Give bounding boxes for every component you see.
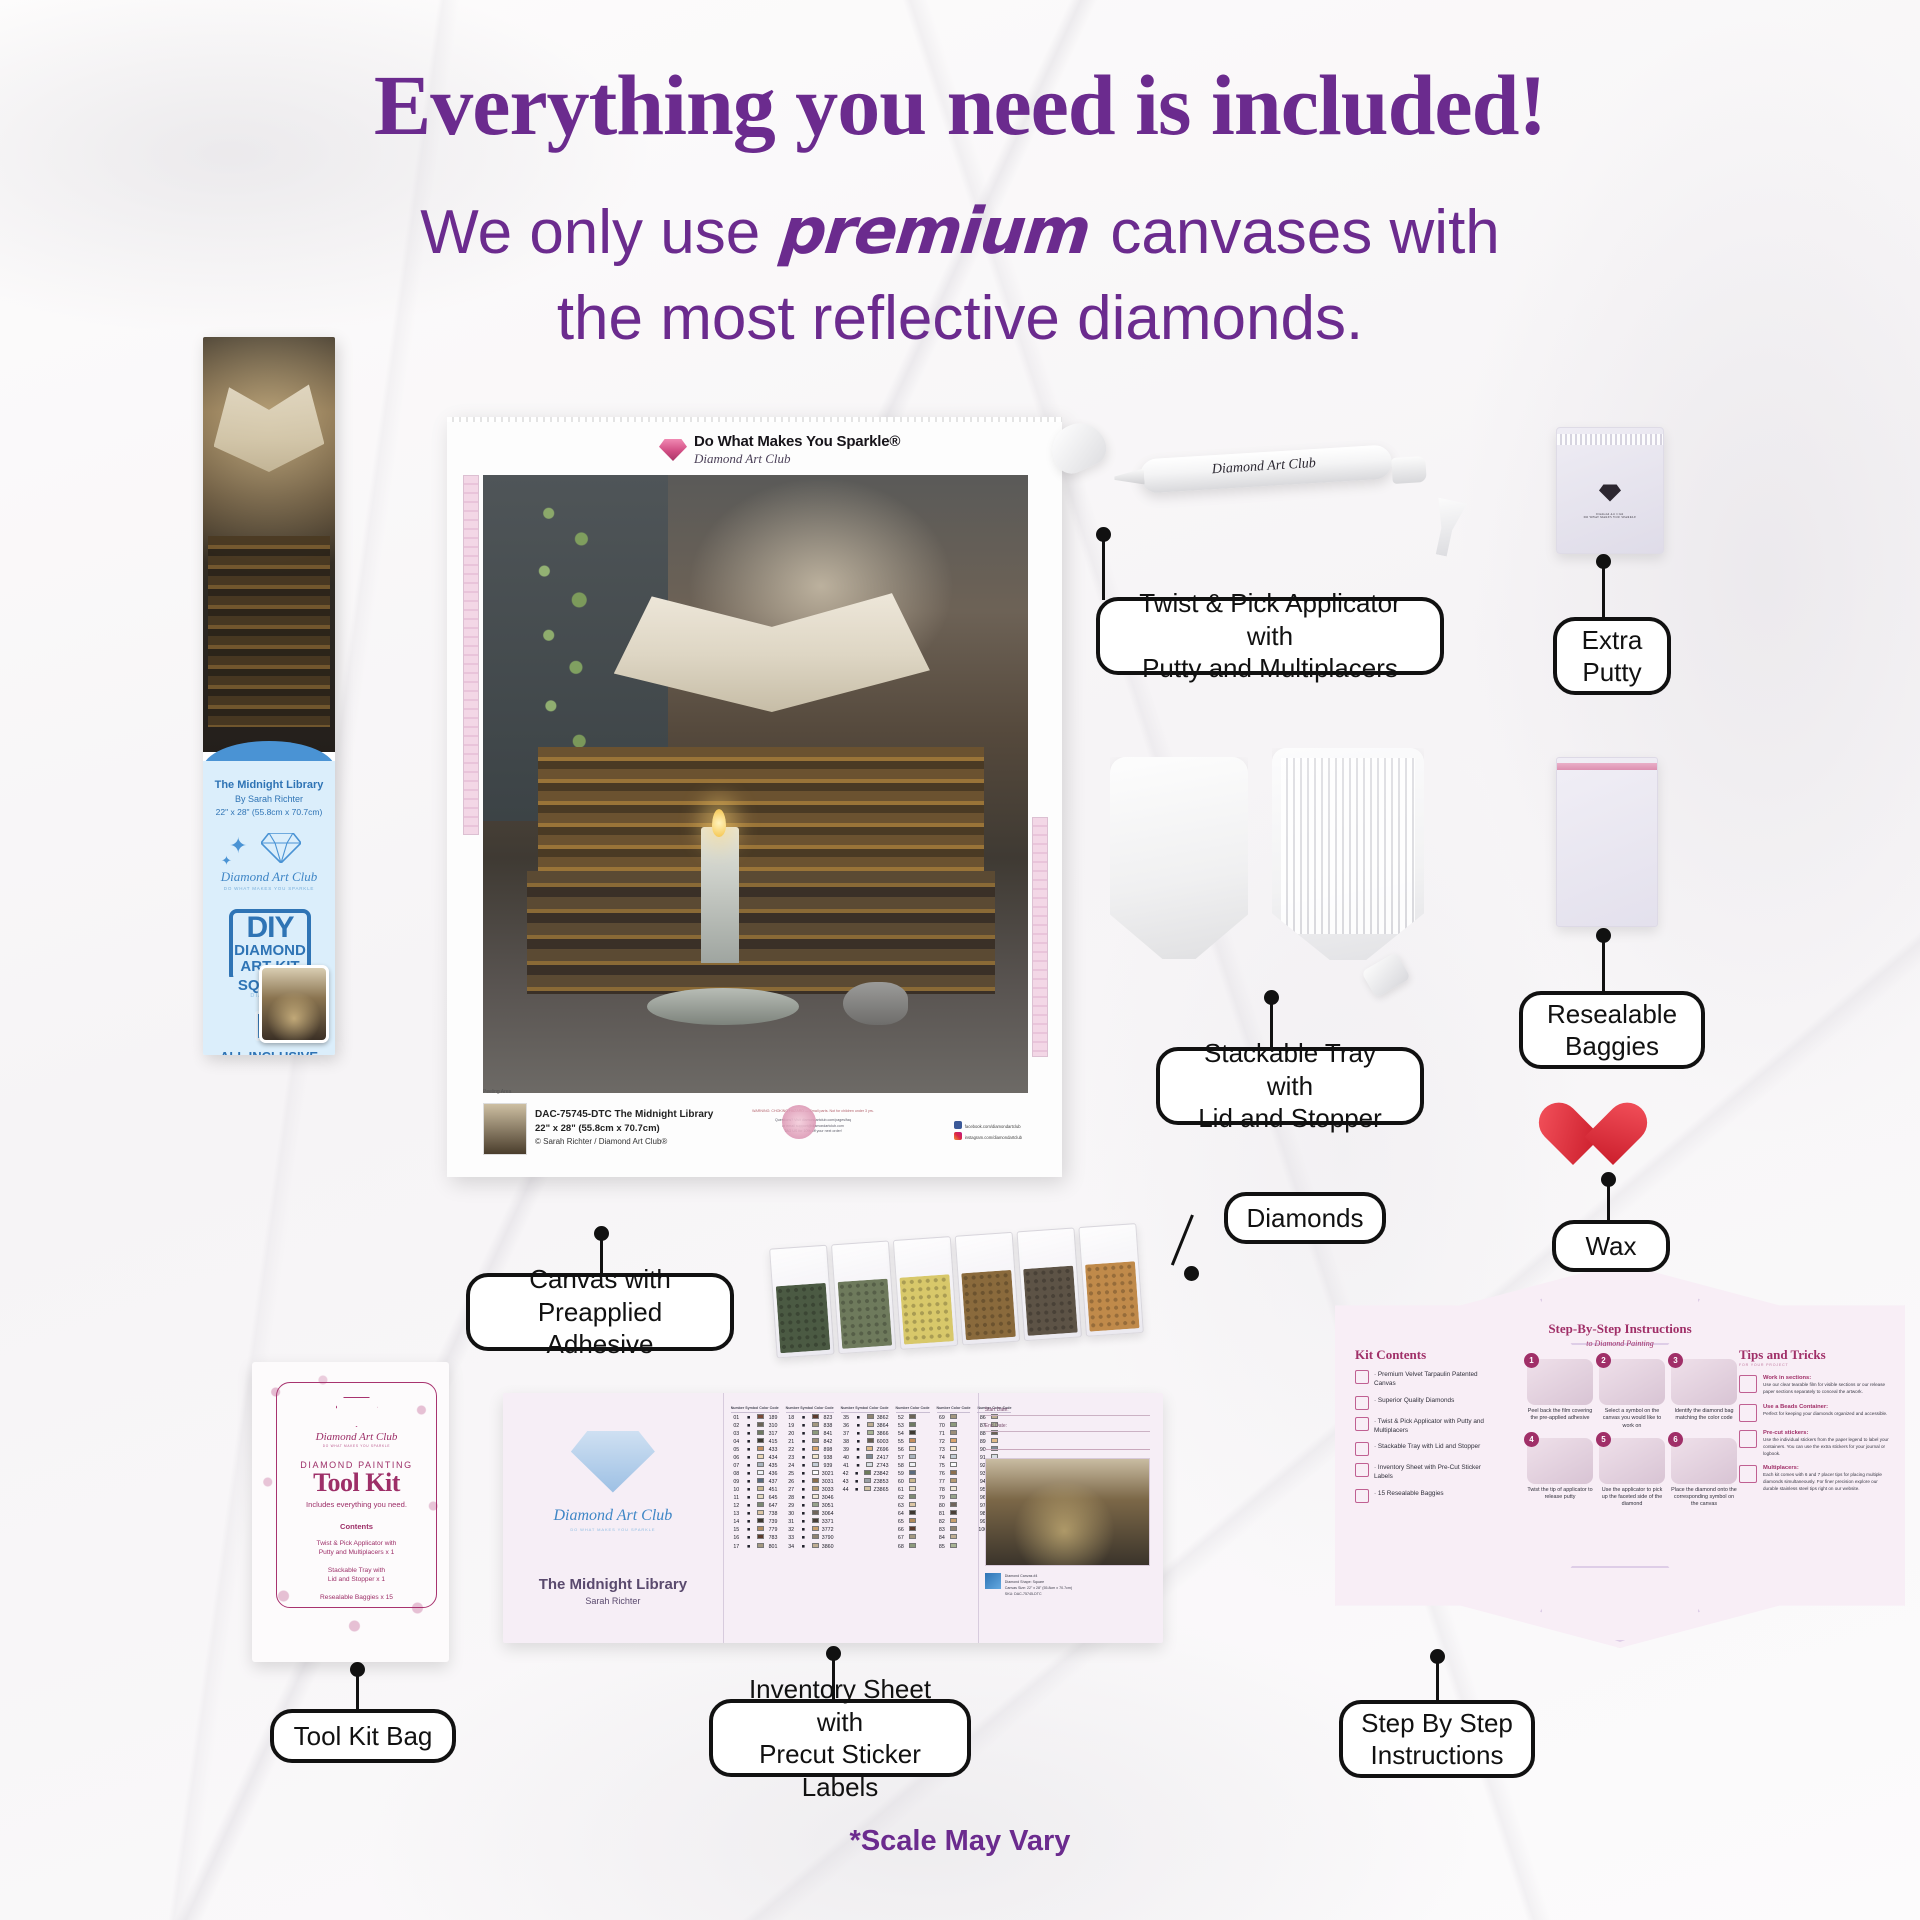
tip-item: Multiplacers:Each kit comes with 6 and 7…	[1739, 1465, 1891, 1493]
col-header-number: Number	[937, 1407, 951, 1411]
inventory-row: 72	[937, 1438, 971, 1446]
tip-body: Use our clear tearable film for visible …	[1763, 1382, 1891, 1396]
inventory-row-color-swatch	[948, 1454, 959, 1462]
instruction-step-text: Select a symbol on the canvas you would …	[1599, 1408, 1665, 1430]
inventory-row: 62	[896, 1494, 930, 1502]
inventory-row-number: 65	[896, 1518, 907, 1526]
inventory-row: 63	[896, 1502, 930, 1510]
inventory-row-color-swatch	[863, 1486, 873, 1494]
inventory-row-number: 55	[896, 1438, 907, 1446]
inventory-row-color-swatch	[907, 1486, 918, 1494]
wax-heart	[1572, 1105, 1644, 1171]
instruction-step-number: 1	[1524, 1353, 1539, 1368]
instruction-steps-grid: 1Peel back the film covering the pre-app…	[1527, 1359, 1737, 1509]
inventory-row-number: 27	[786, 1486, 797, 1494]
inventory-row-code	[960, 1470, 971, 1478]
inventory-row-code	[919, 1534, 930, 1542]
leader-line-resealable	[1602, 935, 1605, 993]
tray-stopper	[1361, 952, 1411, 998]
inventory-table-body: 5253545556575859606162636465666768	[896, 1414, 930, 1551]
canvas-artwork	[483, 475, 1028, 1093]
inventory-table-column: Number Color Code 6970717273747576777879…	[937, 1407, 971, 1629]
inventory-row-color-swatch	[755, 1502, 766, 1510]
inventory-color-tables: Number Symbol Color Code 01■18902■31003■…	[731, 1407, 975, 1629]
inventory-row-number: 63	[896, 1502, 907, 1510]
inventory-row: 82	[937, 1518, 971, 1526]
diamond-fill	[899, 1274, 954, 1344]
inventory-row: 57	[896, 1454, 930, 1462]
extra-putty-bag: Diamond Art Club DO WHAT MAKES YOU SPARK…	[1556, 427, 1664, 554]
page-title: Everything you need is included!	[0, 62, 1920, 148]
sparkle-icon-small: ✦	[221, 853, 232, 869]
inventory-artwork-preview	[985, 1458, 1150, 1566]
inventory-row: 55	[896, 1438, 930, 1446]
inventory-row-code: 317	[767, 1430, 778, 1438]
inventory-row-number: 16	[731, 1534, 742, 1542]
inventory-row-code: Z3853	[874, 1478, 889, 1486]
inventory-row-color-swatch	[863, 1470, 873, 1478]
inventory-row-color-swatch	[755, 1462, 766, 1470]
resealable-baggie	[1556, 757, 1658, 927]
inventory-row: 14■739	[731, 1518, 779, 1526]
inventory-row-symbol: ■	[798, 1534, 809, 1542]
diamond-icon	[261, 833, 301, 863]
scale-footnote: *Scale May Vary	[0, 1825, 1920, 1858]
inventory-table-header: Number Symbol Color Code	[731, 1407, 779, 1413]
leader-line-toolkit	[356, 1669, 359, 1711]
callout-applicator: Twist & Pick Applicator with Putty and M…	[1096, 597, 1444, 675]
tool-kit-brand: Diamond Art Club	[277, 1431, 436, 1443]
instruction-step-number: 5	[1596, 1432, 1611, 1447]
inventory-table-header: Number Color Code	[937, 1407, 971, 1413]
inventory-row-symbol: ■	[798, 1494, 809, 1502]
inventory-row-color-swatch	[810, 1446, 821, 1454]
inventory-row-code: 842	[822, 1438, 833, 1446]
inventory-row-code: Z417	[876, 1454, 888, 1462]
packaging-brand-tagline: DO WHAT MAKES YOU SPARKLE	[203, 886, 335, 891]
inventory-row: 36■3864	[841, 1422, 889, 1430]
inventory-row-symbol: ■	[798, 1446, 809, 1454]
inventory-row-number: 60	[896, 1478, 907, 1486]
inventory-row-code	[919, 1526, 930, 1534]
inventory-table-body: 18■82319■83820■84121■84222■89823■93824■9…	[786, 1414, 834, 1551]
tip-item: Work in sections:Use our clear tearable …	[1739, 1375, 1891, 1396]
inventory-row-number: 13	[731, 1510, 742, 1518]
inventory-row-symbol: ■	[853, 1422, 864, 1430]
inventory-row-number: 03	[731, 1430, 742, 1438]
inventory-row-code	[960, 1502, 971, 1510]
inventory-row-code	[919, 1462, 930, 1470]
facebook-icon	[954, 1121, 962, 1129]
inventory-row: 84	[937, 1534, 971, 1542]
inventory-row-number: 02	[731, 1422, 742, 1430]
inventory-row-symbol: ■	[798, 1526, 809, 1534]
diamond-bag	[1017, 1227, 1083, 1341]
inventory-row: 23■938	[786, 1454, 834, 1462]
applicator-brand: Diamond Art Club	[1211, 456, 1316, 478]
instruction-step-text: Peel back the film covering the pre-appl…	[1527, 1408, 1593, 1423]
kit-item-label: · 15 Resealable Baggies	[1374, 1489, 1444, 1498]
inventory-row: 29■3051	[786, 1502, 834, 1510]
inventory-row-color-swatch	[948, 1494, 959, 1502]
inventory-row: 37■3866	[841, 1430, 889, 1438]
diamond-fill	[838, 1279, 893, 1349]
inventory-row: 77	[937, 1478, 971, 1486]
inventory-row-number: 80	[937, 1502, 948, 1510]
col-header-color: Color	[951, 1407, 960, 1411]
kit-item-icon	[1355, 1417, 1369, 1431]
inventory-row: 76	[937, 1470, 971, 1478]
inventory-row-symbol: ■	[798, 1422, 809, 1430]
canvas-social-links: facebook.com/diamondartclub instagram.co…	[954, 1121, 1022, 1143]
tip-body: Perfect for keeping your diamonds organi…	[1763, 1411, 1887, 1418]
inventory-row-number: 25	[786, 1470, 797, 1478]
inventory-row-number: 37	[841, 1430, 852, 1438]
col-header-symbol: Symbol	[800, 1407, 813, 1411]
inventory-row-code: 739	[767, 1518, 778, 1526]
inventory-row-number: 78	[937, 1486, 948, 1494]
putty-bag-brand: Diamond Art Club DO WHAT MAKES YOU SPARK…	[1557, 513, 1663, 519]
packaging-size: 22" x 28" (55.8cm x 70.7cm)	[203, 807, 335, 817]
inventory-row: 81	[937, 1510, 971, 1518]
inventory-row-symbol: ■	[853, 1414, 864, 1422]
inventory-row: 40■Z417	[841, 1454, 889, 1462]
inventory-row-number: 69	[937, 1414, 948, 1422]
inventory-row: 79	[937, 1494, 971, 1502]
callout-canvas: Canvas with Preapplied Adhesive	[466, 1273, 734, 1351]
inventory-row-color-swatch	[948, 1422, 959, 1430]
inventory-row-number: 05	[731, 1446, 742, 1454]
inventory-row-symbol: ■	[743, 1502, 754, 1510]
inventory-row-symbol: ■	[798, 1470, 809, 1478]
inventory-row-color-swatch	[810, 1518, 821, 1526]
diamond-bag	[1078, 1223, 1144, 1337]
diamond-fill	[1023, 1266, 1078, 1336]
diamond-bag	[769, 1245, 835, 1359]
inventory-row-code: 435	[767, 1462, 778, 1470]
col-header-number: Number	[731, 1407, 745, 1411]
inventory-row-color-swatch	[865, 1422, 876, 1430]
all-inclusive-label: ALL INCLUSIVE	[203, 1049, 335, 1055]
inventory-row-number: 34	[786, 1543, 797, 1551]
inventory-row-number: 52	[896, 1414, 907, 1422]
inventory-table-column: Number Symbol Color Code 18■82319■83820■…	[786, 1407, 834, 1629]
inventory-row-symbol: ■	[798, 1543, 809, 1551]
kit-contents-item: · Superior Quality Diamonds	[1355, 1396, 1500, 1410]
inventory-row-number: 82	[937, 1518, 948, 1526]
col-header-code: Code	[962, 1407, 971, 1411]
diamond-gem-icon-toolkit	[336, 1397, 378, 1427]
inventory-row-number: 14	[731, 1518, 742, 1526]
inventory-row-number: 19	[786, 1422, 797, 1430]
inventory-row: 74	[937, 1454, 971, 1462]
inventory-row-number: 41	[841, 1462, 852, 1470]
inventory-row-code: 310	[767, 1422, 778, 1430]
inventory-row-number: 77	[937, 1478, 948, 1486]
inventory-row-color-swatch	[810, 1543, 821, 1551]
inventory-row-code: 738	[767, 1510, 778, 1518]
inventory-row-symbol: ■	[743, 1494, 754, 1502]
kit-item-label: · Stackable Tray with Lid and Stopper	[1374, 1442, 1480, 1451]
inventory-row-number: 23	[786, 1454, 797, 1462]
inventory-row-symbol: ■	[743, 1518, 754, 1526]
inventory-row: 38■6003	[841, 1438, 889, 1446]
inventory-row-code: 3033	[822, 1486, 834, 1494]
inventory-row-number: 58	[896, 1462, 907, 1470]
inventory-row-code: 3031	[822, 1478, 834, 1486]
artwork-candle-base	[647, 988, 800, 1025]
inventory-row-symbol: ■	[743, 1526, 754, 1534]
diamond-bag	[831, 1240, 897, 1354]
inventory-row-symbol: ■	[798, 1478, 809, 1486]
inventory-row-color-swatch	[810, 1414, 821, 1422]
instruction-step-image: 5	[1599, 1438, 1665, 1484]
callout-tool-kit-bag: Tool Kit Bag	[270, 1709, 456, 1763]
artwork-book-stack-upper	[538, 747, 985, 883]
inventory-row-code: 3371	[822, 1518, 834, 1526]
inventory-table-header: Number Symbol Color Code	[786, 1407, 834, 1413]
diamond-outline-icon-bottom	[1540, 1566, 1700, 1642]
inventory-row-color-swatch	[907, 1526, 918, 1534]
callout-extra-putty: Extra Putty	[1553, 617, 1671, 695]
canvas-color-legend-right	[1032, 817, 1048, 1057]
inventory-row-code: Z3842	[874, 1470, 889, 1478]
inventory-row-symbol: ■	[853, 1430, 864, 1438]
inventory-row-number: 75	[937, 1462, 948, 1470]
inventory-row: 56	[896, 1446, 930, 1454]
col-header-code: Code	[880, 1407, 889, 1411]
tips-heading: Tips and Tricks	[1739, 1347, 1891, 1363]
inventory-row: 19■838	[786, 1422, 834, 1430]
inventory-row-symbol: ■	[743, 1478, 754, 1486]
inventory-row-code: 3866	[877, 1430, 889, 1438]
inventory-row-code	[919, 1414, 930, 1422]
step-by-step-instructions-sheet: Step-By-Step Instructions to Diamond Pai…	[1335, 1263, 1905, 1648]
inventory-row-number: 26	[786, 1478, 797, 1486]
inventory-row: 44■Z3865	[841, 1486, 889, 1494]
inventory-row: 09■437	[731, 1478, 779, 1486]
inventory-row-color-swatch	[948, 1414, 959, 1422]
instruction-step-text: Place the diamond onto the corresponding…	[1671, 1487, 1737, 1509]
inventory-row-number: 43	[841, 1478, 851, 1486]
inventory-row-number: 24	[786, 1462, 797, 1470]
inventory-row-number: 30	[786, 1510, 797, 1518]
tip-title: Pre-cut stickers:	[1763, 1430, 1891, 1436]
inventory-row-number: 09	[731, 1478, 742, 1486]
kit-contents-item: · 15 Resealable Baggies	[1355, 1489, 1500, 1503]
inventory-row-color-swatch	[948, 1510, 959, 1518]
tips-subheading: FOR YOUR PROJECT	[1739, 1363, 1891, 1367]
inventory-row: 83	[937, 1526, 971, 1534]
inventory-row: 34■3860	[786, 1543, 834, 1551]
inventory-row: 67	[896, 1534, 930, 1542]
inventory-row-color-swatch	[755, 1454, 766, 1462]
inventory-row: 54	[896, 1430, 930, 1438]
instruction-step: 2Select a symbol on the canvas you would…	[1599, 1359, 1665, 1430]
inventory-row-code	[919, 1446, 930, 1454]
tip-title: Multiplacers:	[1763, 1465, 1891, 1471]
inventory-row-symbol: ■	[798, 1510, 809, 1518]
inventory-row-color-swatch	[755, 1526, 766, 1534]
callout-stackable-tray: Stackable Tray with Lid and Stopper	[1156, 1047, 1424, 1125]
inventory-row-code: 898	[822, 1446, 833, 1454]
inventory-row-number: 71	[937, 1430, 948, 1438]
inventory-row-color-swatch	[810, 1470, 821, 1478]
inventory-row-code	[919, 1486, 930, 1494]
kit-contents-item: · Stackable Tray with Lid and Stopper	[1355, 1442, 1500, 1456]
inventory-row-color-swatch	[948, 1502, 959, 1510]
inventory-row-color-swatch	[810, 1510, 821, 1518]
inventory-row-number: 73	[937, 1446, 948, 1454]
inventory-row-code	[960, 1438, 971, 1446]
inventory-preview-caption: Diamond Canvas #4 Diamond Shape: Square …	[1005, 1573, 1072, 1597]
inventory-row-number: 62	[896, 1494, 907, 1502]
inventory-table-header: Number Symbol Color Code	[841, 1407, 889, 1413]
inventory-row: 11■645	[731, 1494, 779, 1502]
inventory-sheet: Diamond Art Club DO WHAT MAKES YOU SPARK…	[503, 1393, 1163, 1643]
inventory-row: 16■783	[731, 1534, 779, 1542]
inventory-row-color-swatch	[810, 1422, 821, 1430]
inventory-row: 64	[896, 1510, 930, 1518]
inventory-row-code: 779	[767, 1526, 778, 1534]
diamond-bags-strip	[769, 1222, 1167, 1374]
inventory-row-color-swatch	[907, 1430, 918, 1438]
inventory-row-code: Z743	[876, 1462, 888, 1470]
callout-inventory-sheet: Inventory Sheet with Precut Sticker Labe…	[709, 1699, 971, 1777]
inventory-row-symbol: ■	[743, 1510, 754, 1518]
inventory-row-color-swatch	[948, 1478, 959, 1486]
inventory-row-color-swatch	[948, 1526, 959, 1534]
inventory-row-number: 83	[937, 1526, 948, 1534]
packaging-title: The Midnight Library	[203, 779, 335, 791]
inventory-row-code: 436	[767, 1470, 778, 1478]
inventory-row-color-swatch	[865, 1414, 876, 1422]
col-header-number: Number	[896, 1407, 910, 1411]
inventory-row-symbol: ■	[852, 1486, 862, 1494]
kit-contents-item: · Inventory Sheet with Pre-Cut Sticker L…	[1355, 1463, 1500, 1482]
inventory-row-number: 67	[896, 1534, 907, 1542]
inventory-row-code	[960, 1454, 971, 1462]
instruction-step-number: 2	[1596, 1353, 1611, 1368]
stackable-tray	[1272, 748, 1424, 960]
kit-contents-item: · Twist & Pick Applicator with Putty and…	[1355, 1417, 1500, 1436]
inventory-row-color-swatch	[810, 1502, 821, 1510]
diamond-fill	[961, 1270, 1016, 1340]
inventory-row: 01■189	[731, 1414, 779, 1422]
inventory-row-number: 59	[896, 1470, 907, 1478]
inventory-row-code: 841	[822, 1430, 833, 1438]
instruction-step-image: 4	[1527, 1438, 1593, 1484]
kit-item-icon	[1355, 1396, 1369, 1410]
tip-body: Use the individual stickers from the pap…	[1763, 1437, 1891, 1458]
col-header-code: Code	[770, 1407, 779, 1411]
packaging-artist: By Sarah Richter	[203, 794, 335, 804]
inventory-row: 32■3772	[786, 1526, 834, 1534]
inventory-row-color-swatch	[865, 1446, 876, 1454]
diy-label: DIY	[229, 913, 311, 943]
inventory-row: 25■3021	[786, 1470, 834, 1478]
col-header-code: Code	[921, 1407, 930, 1411]
start-date-field[interactable]: Start Date:	[985, 1407, 1150, 1416]
inventory-row: 03■317	[731, 1430, 779, 1438]
instruction-step-number: 3	[1668, 1353, 1683, 1368]
col-header-number: Number	[786, 1407, 800, 1411]
inventory-row-number: 33	[786, 1534, 797, 1542]
inventory-row-color-swatch	[907, 1414, 918, 1422]
inventory-row-color-swatch	[948, 1438, 959, 1446]
inventory-row-symbol: ■	[853, 1462, 864, 1470]
canvas-copyright-line: © Sarah Richter / Diamond Art Club®	[535, 1137, 667, 1146]
inventory-row: 33■3790	[786, 1534, 834, 1542]
instruction-step-text: Twist the tip of applicator to release p…	[1527, 1487, 1593, 1502]
col-header-color: Color	[910, 1407, 919, 1411]
inventory-row: 61	[896, 1486, 930, 1494]
inventory-row: 73	[937, 1446, 971, 1454]
canvas-quality-seal	[782, 1105, 816, 1139]
inventory-row-symbol: ■	[852, 1478, 862, 1486]
inventory-row-color-swatch	[810, 1486, 821, 1494]
diamond-painting-canvas: Do What Makes You Sparkle® Diamond Art C…	[447, 417, 1062, 1177]
inventory-row: 60	[896, 1478, 930, 1486]
inventory-row-color-swatch	[907, 1446, 918, 1454]
tip-body: Each kit comes with 6 and 7 placer tips …	[1763, 1472, 1891, 1493]
facebook-handle: facebook.com/diamondartclub	[965, 1124, 1021, 1129]
inventory-row-symbol: ■	[798, 1502, 809, 1510]
inventory-row-color-swatch	[810, 1454, 821, 1462]
inventory-row-color-swatch	[865, 1438, 876, 1446]
inventory-row-code	[919, 1494, 930, 1502]
inventory-row: 06■434	[731, 1454, 779, 1462]
inventory-row: 05■433	[731, 1446, 779, 1454]
inventory-table-header: Number Color Code	[896, 1407, 930, 1413]
inventory-row: 75	[937, 1462, 971, 1470]
inventory-row-code: 3021	[822, 1470, 834, 1478]
multiplacer-tip	[1419, 496, 1476, 560]
packaging-thumbnail	[259, 965, 329, 1043]
col-header-symbol: Symbol	[855, 1407, 868, 1411]
tool-kit-tagline: Includes everything you need.	[277, 1500, 436, 1509]
inventory-row-code: 801	[767, 1543, 778, 1551]
canvas-footer-thumbnail	[483, 1103, 527, 1155]
inventory-row-number: 21	[786, 1438, 797, 1446]
inventory-row: 69	[937, 1414, 971, 1422]
inventory-row-code	[919, 1502, 930, 1510]
diamond-gem-icon-putty-bag	[1599, 485, 1621, 502]
tool-kit-contents-heading: Contents	[277, 1522, 436, 1531]
inventory-row: 18■823	[786, 1414, 834, 1422]
inventory-row-color-swatch	[755, 1478, 766, 1486]
inventory-row-code: 437	[767, 1478, 778, 1486]
inventory-row: 08■436	[731, 1470, 779, 1478]
inventory-row-number: 68	[896, 1543, 907, 1551]
inventory-row-symbol: ■	[798, 1438, 809, 1446]
inventory-row-code: 3790	[822, 1534, 834, 1542]
inventory-row-code	[919, 1438, 930, 1446]
diamond-fill	[776, 1283, 831, 1353]
inventory-row-symbol: ■	[798, 1486, 809, 1494]
inventory-row-symbol: ■	[852, 1470, 862, 1478]
inventory-row-symbol: ■	[743, 1438, 754, 1446]
col-header-symbol: Symbol	[745, 1407, 758, 1411]
inventory-row-code	[960, 1462, 971, 1470]
diamond-bag	[893, 1236, 959, 1350]
inventory-row-code	[960, 1534, 971, 1542]
kit-item-label: · Superior Quality Diamonds	[1374, 1396, 1454, 1405]
inventory-row-code	[960, 1414, 971, 1422]
inventory-row-color-swatch	[755, 1543, 766, 1551]
end-date-field[interactable]: End Date:	[985, 1423, 1150, 1432]
inventory-row-number: 70	[937, 1422, 948, 1430]
